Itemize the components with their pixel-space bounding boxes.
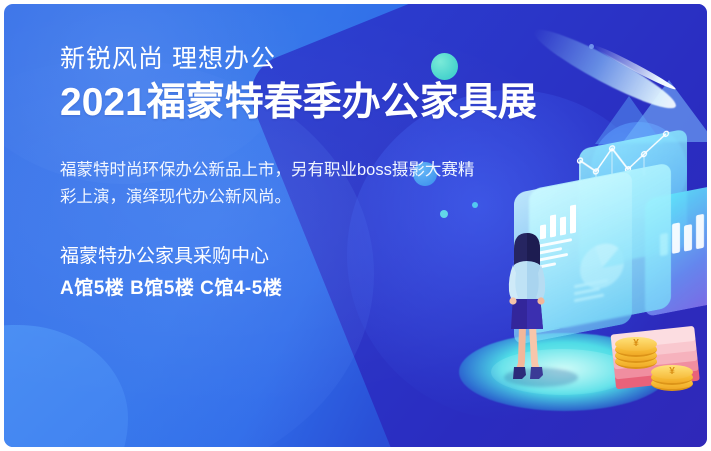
line-chart-card bbox=[579, 129, 687, 270]
line-chart-icon bbox=[576, 127, 672, 192]
banner-headline: 2021福蒙特春季办公家具展 bbox=[60, 78, 530, 128]
bar-chart-card bbox=[514, 171, 632, 346]
pie-chart-notch bbox=[602, 242, 624, 268]
person-shadow bbox=[504, 368, 578, 387]
card-text-lines-b bbox=[574, 279, 608, 307]
pie-chart-card bbox=[529, 162, 671, 335]
pie-chart-icon bbox=[580, 240, 624, 293]
promo-banner: ¥ ¥ 新锐风尚 理想办公 2021福蒙特春季办公家具展 福蒙特时尚环保办公新品… bbox=[0, 0, 711, 451]
card-text-lines-a bbox=[532, 238, 572, 274]
small-dot-decoration-4 bbox=[564, 249, 569, 254]
comet-streak-shape bbox=[528, 20, 681, 118]
coin-currency-symbol: ¥ bbox=[615, 337, 657, 351]
banner-body-text: 福蒙特时尚环保办公新品上市，另有职业boss摄影大赛精彩上演，演绎现代办公新风尚… bbox=[60, 157, 490, 211]
bottom-left-blob-shape bbox=[4, 325, 128, 447]
banner-eyebrow: 新锐风尚 理想办公 bbox=[60, 42, 530, 76]
mountain-peak-shape-a bbox=[623, 80, 707, 142]
mountain-peak-shape-b bbox=[595, 96, 663, 144]
comet-core-shape bbox=[593, 43, 678, 92]
banner-venue-name: 福蒙特办公家具采购中心 bbox=[60, 243, 530, 271]
floor-highlight bbox=[491, 349, 633, 395]
banner-text-block: 新锐风尚 理想办公 2021福蒙特春季办公家具展 福蒙特时尚环保办公新品上市，另… bbox=[60, 42, 530, 303]
bar-chart-icon-right bbox=[660, 214, 704, 257]
banner-hall-list: A馆5楼 B馆5楼 C馆4-5楼 bbox=[60, 275, 530, 303]
coin-currency-symbol: ¥ bbox=[651, 365, 693, 379]
small-dot-decoration-3 bbox=[589, 44, 594, 49]
gradient-bar-card bbox=[645, 181, 707, 317]
bar-chart-icon bbox=[540, 205, 576, 240]
planet-circle-shape bbox=[591, 122, 687, 218]
banner-canvas: ¥ ¥ 新锐风尚 理想办公 2021福蒙特春季办公家具展 福蒙特时尚环保办公新品… bbox=[4, 4, 707, 447]
banknote-stack bbox=[610, 323, 702, 390]
glowing-floor-disc bbox=[459, 333, 669, 411]
